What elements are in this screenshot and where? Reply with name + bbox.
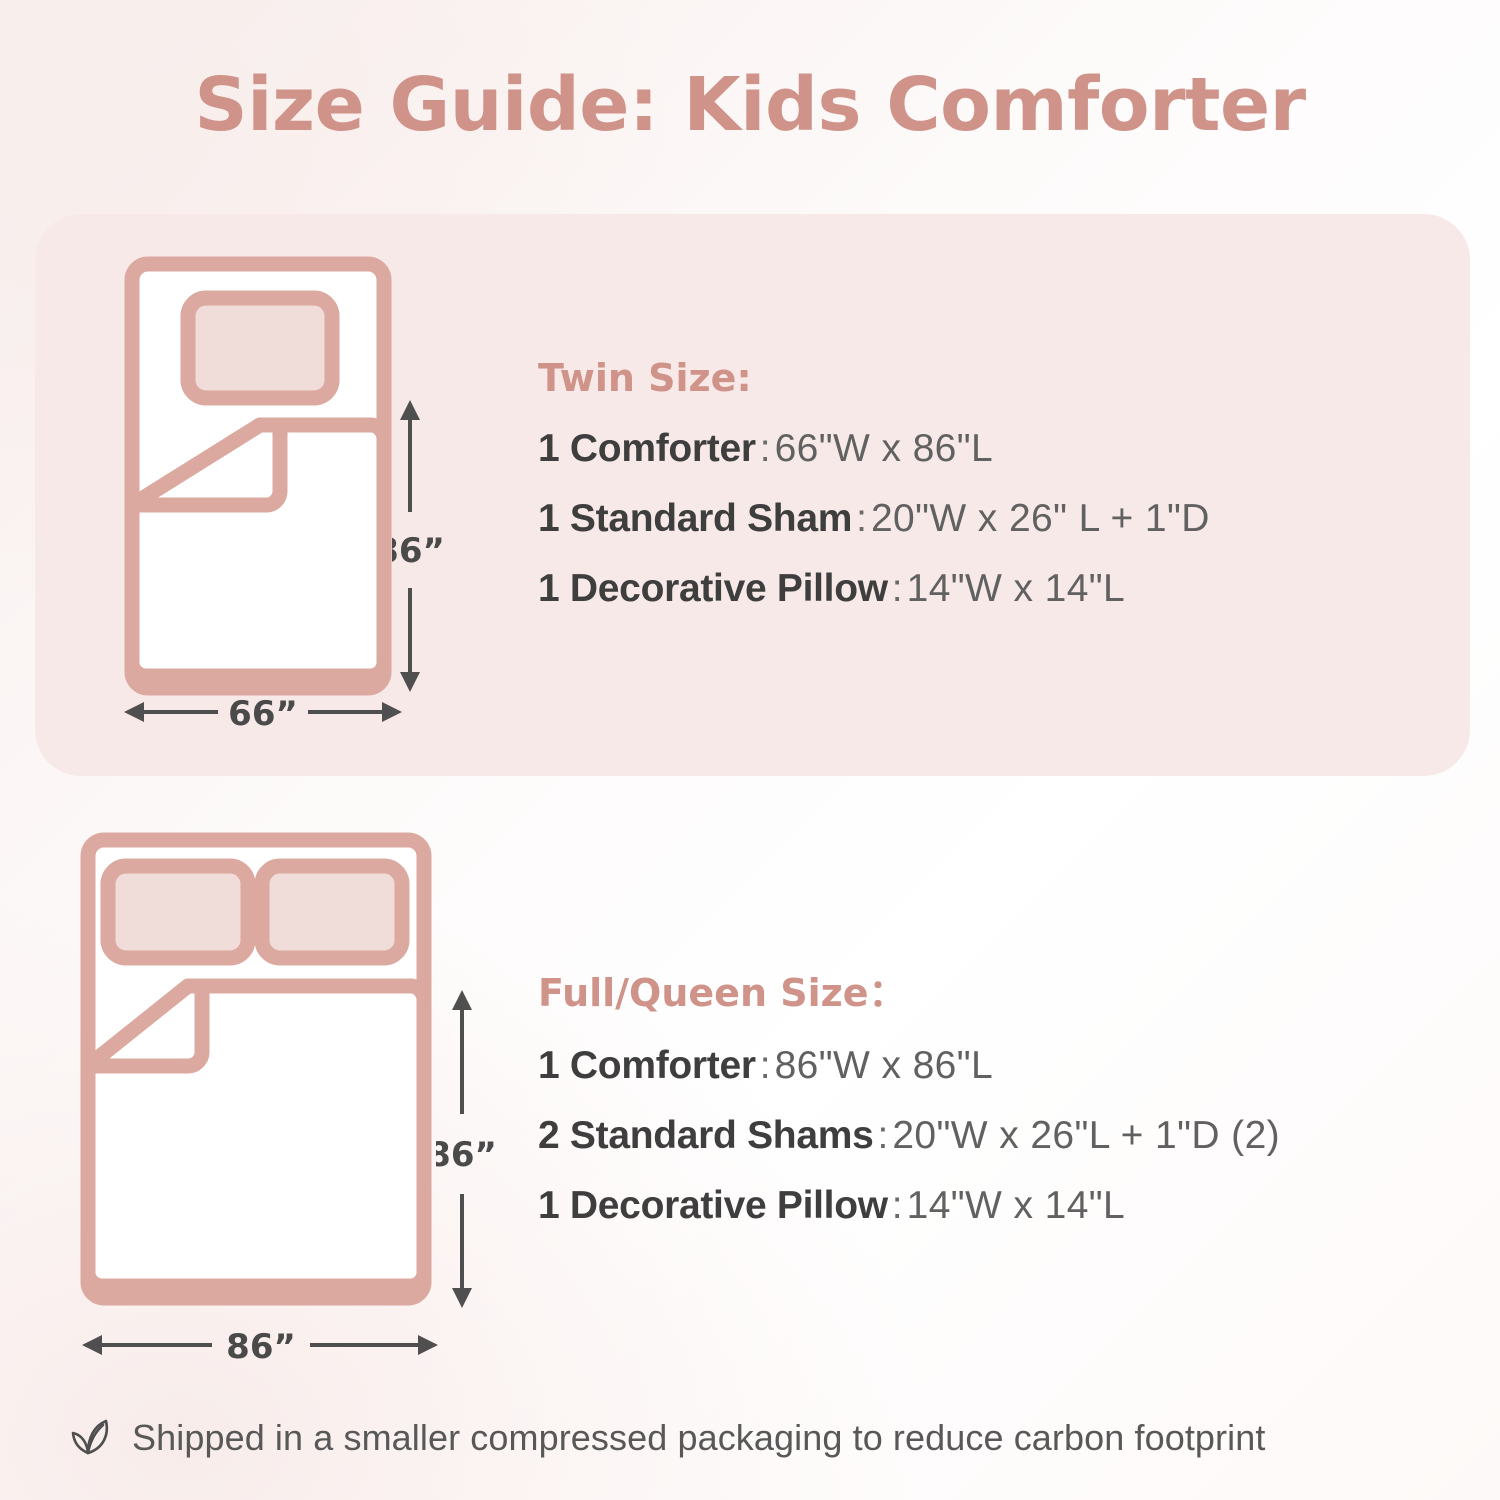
arrow-head-down <box>452 1288 472 1308</box>
spec-row: 1 Comforter:86"W x 86"L <box>538 1043 1280 1089</box>
queen-height-label: 86” <box>436 1135 497 1175</box>
spec-label: 1 Decorative Pillow <box>538 567 888 610</box>
spec-row: 1 Decorative Pillow:14"W x 14"L <box>538 1183 1280 1229</box>
leaf-icon <box>62 1412 114 1464</box>
twin-width-dimension: 66” <box>122 688 404 736</box>
spec-value: 14"W x 14"L <box>907 1184 1126 1227</box>
queen-heading: Full/Queen Size： <box>538 962 1280 1017</box>
spec-separator: : <box>756 427 775 470</box>
pillow-shape <box>188 298 332 398</box>
arrow-head-left <box>124 702 144 722</box>
spec-separator: : <box>873 1114 892 1157</box>
spec-value: 20"W x 26"L + 1"D (2) <box>892 1114 1280 1157</box>
spec-value: 20"W x 26" L + 1"D <box>871 497 1210 540</box>
spec-label: 1 Comforter <box>538 1044 756 1087</box>
twin-heading: Twin Size: <box>538 356 1210 400</box>
spec-row: 1 Standard Sham:20"W x 26" L + 1"D <box>538 496 1210 542</box>
queen-width-dimension: 86” <box>80 1320 440 1370</box>
spec-separator: : <box>756 1044 775 1087</box>
spec-label: 1 Comforter <box>538 427 756 470</box>
pillow-shape-left <box>108 866 248 958</box>
footer-text: Shipped in a smaller compressed packagin… <box>132 1417 1265 1459</box>
page-title: Size Guide: Kids Comforter <box>0 62 1500 148</box>
spec-value: 66"W x 86"L <box>775 427 994 470</box>
spec-separator: : <box>888 1184 907 1227</box>
size-guide-page: Size Guide: Kids Comforter 86” <box>0 0 1500 1500</box>
footer-note: Shipped in a smaller compressed packagin… <box>62 1412 1265 1464</box>
spec-value: 86"W x 86"L <box>775 1044 994 1087</box>
spec-label: 1 Decorative Pillow <box>538 1184 888 1227</box>
pillow-shape-right <box>262 866 402 958</box>
spec-row: 1 Comforter:66"W x 86"L <box>538 426 1210 472</box>
arrow-head-left <box>82 1335 102 1355</box>
arrow-head-up <box>400 400 420 420</box>
spec-separator: : <box>852 497 871 540</box>
spec-label: 1 Standard Sham <box>538 497 852 540</box>
queen-specs: Full/Queen Size： 1 Comforter:86"W x 86"L… <box>538 962 1280 1229</box>
arrow-head-right <box>418 1335 438 1355</box>
spec-value: 14"W x 14"L <box>907 567 1126 610</box>
queen-bed-diagram <box>76 828 456 1328</box>
twin-height-label: 86” <box>392 531 445 571</box>
spec-label: 2 Standard Shams <box>538 1114 873 1157</box>
spec-separator: : <box>888 567 907 610</box>
twin-specs: Twin Size: 1 Comforter:66"W x 86"L 1 Sta… <box>538 356 1210 612</box>
spec-row: 1 Decorative Pillow:14"W x 14"L <box>538 566 1210 612</box>
spec-row: 2 Standard Shams:20"W x 26"L + 1"D (2) <box>538 1113 1280 1159</box>
twin-width-label: 66” <box>228 694 298 734</box>
arrow-head-right <box>382 702 402 722</box>
queen-height-dimension: 86” <box>436 988 512 1310</box>
queen-width-label: 86” <box>226 1327 296 1367</box>
arrow-head-up <box>452 990 472 1010</box>
twin-height-dimension: 86” <box>392 398 462 694</box>
